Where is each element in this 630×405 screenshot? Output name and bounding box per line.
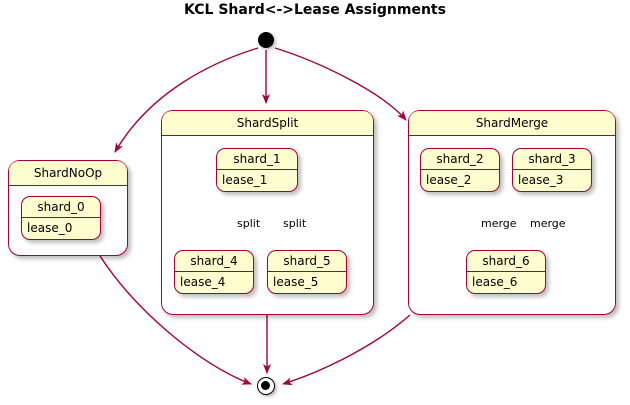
shard-state-shard-0[interactable]: shard_0 lease_0 — [21, 196, 101, 240]
shard-state-shard-4-lease: lease_4 — [175, 272, 253, 293]
node-layer: ShardNoOp shard_0 lease_0 ShardSplit sha… — [0, 0, 630, 405]
shard-state-shard-5-lease: lease_5 — [268, 272, 346, 293]
composite-state-shardnoop-body: shard_0 lease_0 — [9, 186, 127, 254]
shard-state-shard-3-lease: lease_3 — [513, 170, 591, 191]
shard-state-shard-6-title: shard_6 — [467, 251, 545, 272]
initial-state-node[interactable] — [258, 32, 274, 48]
shard-state-shard-5-title: shard_5 — [268, 251, 346, 272]
shard-state-shard-3[interactable]: shard_3 lease_3 — [512, 148, 592, 192]
state-diagram-canvas: KCL Shard<->Lease Assignments — [0, 0, 630, 405]
shard-state-shard-0-lease: lease_0 — [22, 218, 100, 239]
shard-state-shard-3-title: shard_3 — [513, 149, 591, 170]
composite-state-shardmerge-title: ShardMerge — [409, 111, 615, 136]
shard-state-shard-4[interactable]: shard_4 lease_4 — [174, 250, 254, 294]
edge-label-split-left: split — [237, 217, 260, 230]
final-state-node[interactable] — [257, 377, 275, 395]
shard-state-shard-1[interactable]: shard_1 lease_1 — [216, 148, 298, 192]
shard-state-shard-2-lease: lease_2 — [421, 170, 499, 191]
shard-state-shard-6[interactable]: shard_6 lease_6 — [466, 250, 546, 294]
composite-state-shardmerge[interactable]: ShardMerge shard_2 lease_2 shard_3 lease… — [408, 110, 616, 315]
edge-label-merge-right: merge — [530, 217, 566, 230]
edge-label-split-right: split — [283, 217, 306, 230]
composite-state-shardnoop[interactable]: ShardNoOp shard_0 lease_0 — [8, 160, 128, 256]
shard-state-shard-1-title: shard_1 — [217, 149, 297, 170]
shard-state-shard-4-title: shard_4 — [175, 251, 253, 272]
shard-state-shard-0-title: shard_0 — [22, 197, 100, 218]
shard-state-shard-1-lease: lease_1 — [217, 170, 297, 191]
final-state-inner-dot — [261, 381, 270, 390]
composite-state-shardsplit[interactable]: ShardSplit shard_1 lease_1 shard_4 lease… — [161, 110, 374, 315]
shard-state-shard-2[interactable]: shard_2 lease_2 — [420, 148, 500, 192]
composite-state-shardsplit-title: ShardSplit — [162, 111, 373, 136]
composite-state-shardnoop-title: ShardNoOp — [9, 161, 127, 186]
composite-state-shardsplit-body: shard_1 lease_1 shard_4 lease_4 shard_5 … — [162, 136, 373, 313]
shard-state-shard-6-lease: lease_6 — [467, 272, 545, 293]
shard-state-shard-2-title: shard_2 — [421, 149, 499, 170]
edge-label-merge-left: merge — [481, 217, 517, 230]
shard-state-shard-5[interactable]: shard_5 lease_5 — [267, 250, 347, 294]
